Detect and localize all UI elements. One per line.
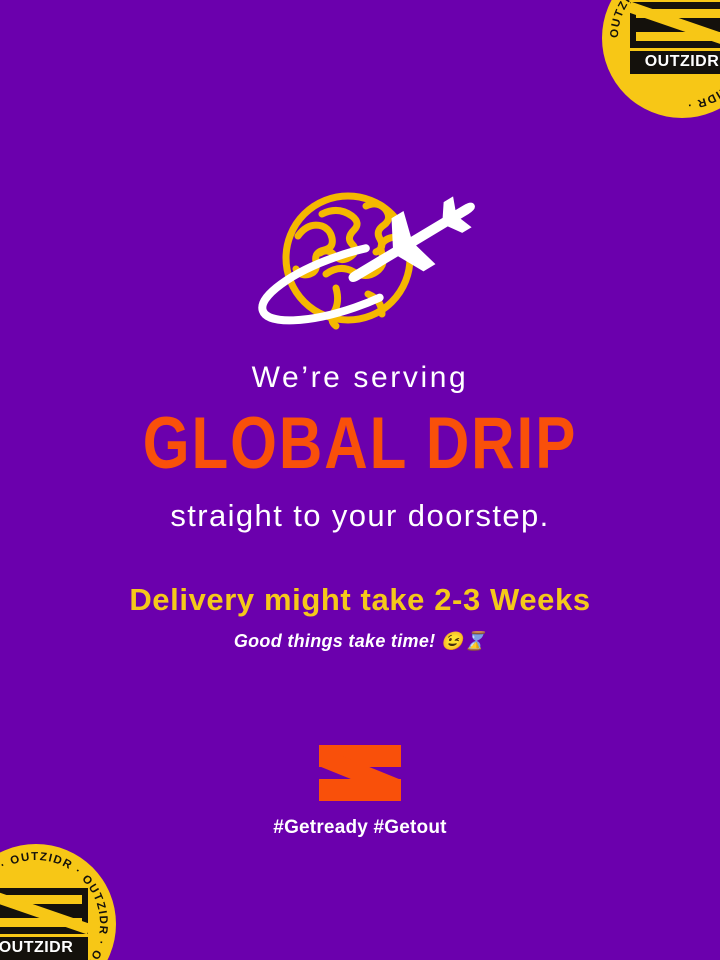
brand-stamp-top-right: OUTZIDR · OUTZIDR · OUTZIDR · OUTZIDR · … — [602, 0, 720, 118]
stamp-core-bottom-left: OUTZIDR — [0, 888, 88, 960]
reassurance-text: Good things take time! 😉⌛ — [0, 632, 720, 652]
stamp-core-top-right: OUTZIDR — [630, 2, 720, 74]
brand-z-logo-icon — [319, 745, 401, 801]
eyebrow-text: We’re serving — [0, 362, 720, 394]
stamp-z-icon-bottom-left — [0, 888, 88, 934]
globe-airplane-illustration — [0, 168, 720, 358]
brand-stamp-bottom-left: OUTZIDR · OUTZIDR · OUTZIDR · OUTZIDR · … — [0, 844, 116, 960]
stamp-core-word-bottom-left: OUTZIDR — [0, 937, 88, 960]
stamp-z-icon-top-right — [630, 2, 720, 48]
stamp-core-word-top-right: OUTZIDR — [630, 51, 720, 74]
delivery-notice-text: Delivery might take 2-3 Weeks — [0, 584, 720, 617]
brand-tagline: #Getready #Getout — [0, 817, 720, 839]
headline-text: GLOBAL DRIP — [11, 408, 709, 481]
subhead-text: straight to your doorstep. — [0, 500, 720, 533]
brand-footer: #Getready #Getout — [0, 745, 720, 839]
copy-block: We’re serving GLOBAL DRIP straight to yo… — [0, 362, 720, 651]
promo-poster: OUTZIDR · OUTZIDR · OUTZIDR · OUTZIDR · … — [0, 0, 720, 960]
